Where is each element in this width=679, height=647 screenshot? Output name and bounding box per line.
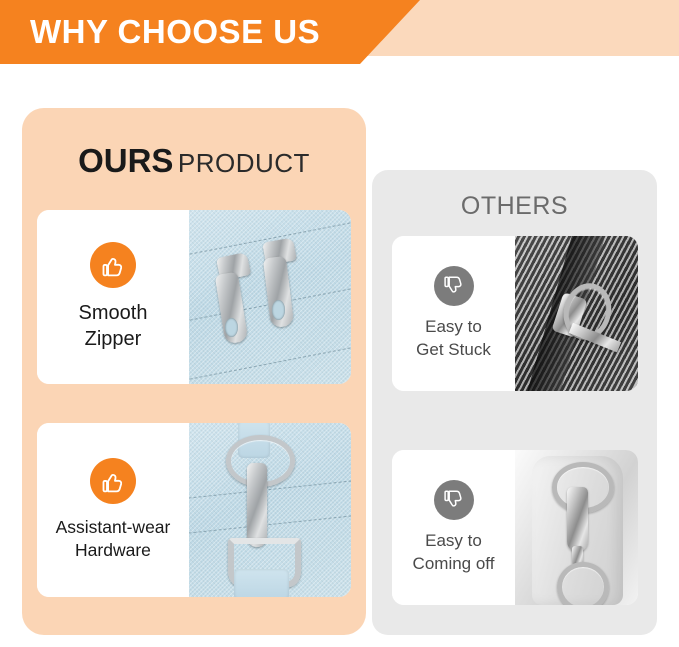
blue-fabric-zipper-image — [189, 210, 351, 384]
clasp-swivel-hook — [247, 463, 266, 547]
ours-heading-strong: OURS — [78, 142, 173, 179]
thumbs-down-icon — [434, 480, 474, 520]
others-panel: OTHERS Easy to Get Stuck — [372, 170, 657, 635]
ours-card-text: Assistant-wear Hardware — [37, 423, 189, 597]
fabric-webbing-strap — [234, 569, 289, 597]
grayscale-zipper-image — [515, 236, 638, 391]
ours-heading: OURS PRODUCT — [22, 142, 366, 180]
ours-card-text: Smooth Zipper — [37, 210, 189, 384]
clasp-lower-ring — [557, 562, 609, 605]
others-card-text: Easy to Get Stuck — [392, 236, 515, 391]
others-card-label: Easy to Coming off — [413, 530, 495, 574]
ours-card-label: Assistant-wear Hardware — [56, 516, 171, 562]
others-card-photo — [515, 450, 638, 605]
others-card-text: Easy to Coming off — [392, 450, 515, 605]
others-card-photo — [515, 236, 638, 391]
others-card-label: Easy to Get Stuck — [416, 316, 491, 360]
blue-fabric-clasp-image — [189, 423, 351, 597]
ours-heading-light: PRODUCT — [178, 148, 310, 178]
fabric-seam — [189, 345, 351, 383]
others-heading: OTHERS — [372, 192, 657, 221]
ours-card-photo — [189, 210, 351, 384]
ours-card-label: Smooth Zipper — [79, 300, 148, 352]
page-header: WHY CHOOSE US — [0, 0, 679, 70]
thumbs-up-icon — [90, 242, 136, 288]
page-title: WHY CHOOSE US — [30, 0, 320, 64]
ours-feature-card: Smooth Zipper — [37, 210, 351, 384]
thumbs-down-icon — [434, 266, 474, 306]
ours-feature-card: Assistant-wear Hardware — [37, 423, 351, 597]
zipper-pull-hole — [272, 300, 285, 319]
grayscale-clasp-image — [515, 450, 638, 605]
thumbs-up-icon — [90, 458, 136, 504]
ours-card-photo — [189, 423, 351, 597]
others-feature-card: Easy to Coming off — [392, 450, 638, 605]
clasp-swivel-hook — [567, 487, 588, 552]
others-feature-card: Easy to Get Stuck — [392, 236, 638, 391]
fabric-seam — [189, 514, 351, 535]
zipper-pull-hole — [225, 318, 238, 337]
ours-panel: OURS PRODUCT Smooth Zipper — [22, 108, 366, 635]
